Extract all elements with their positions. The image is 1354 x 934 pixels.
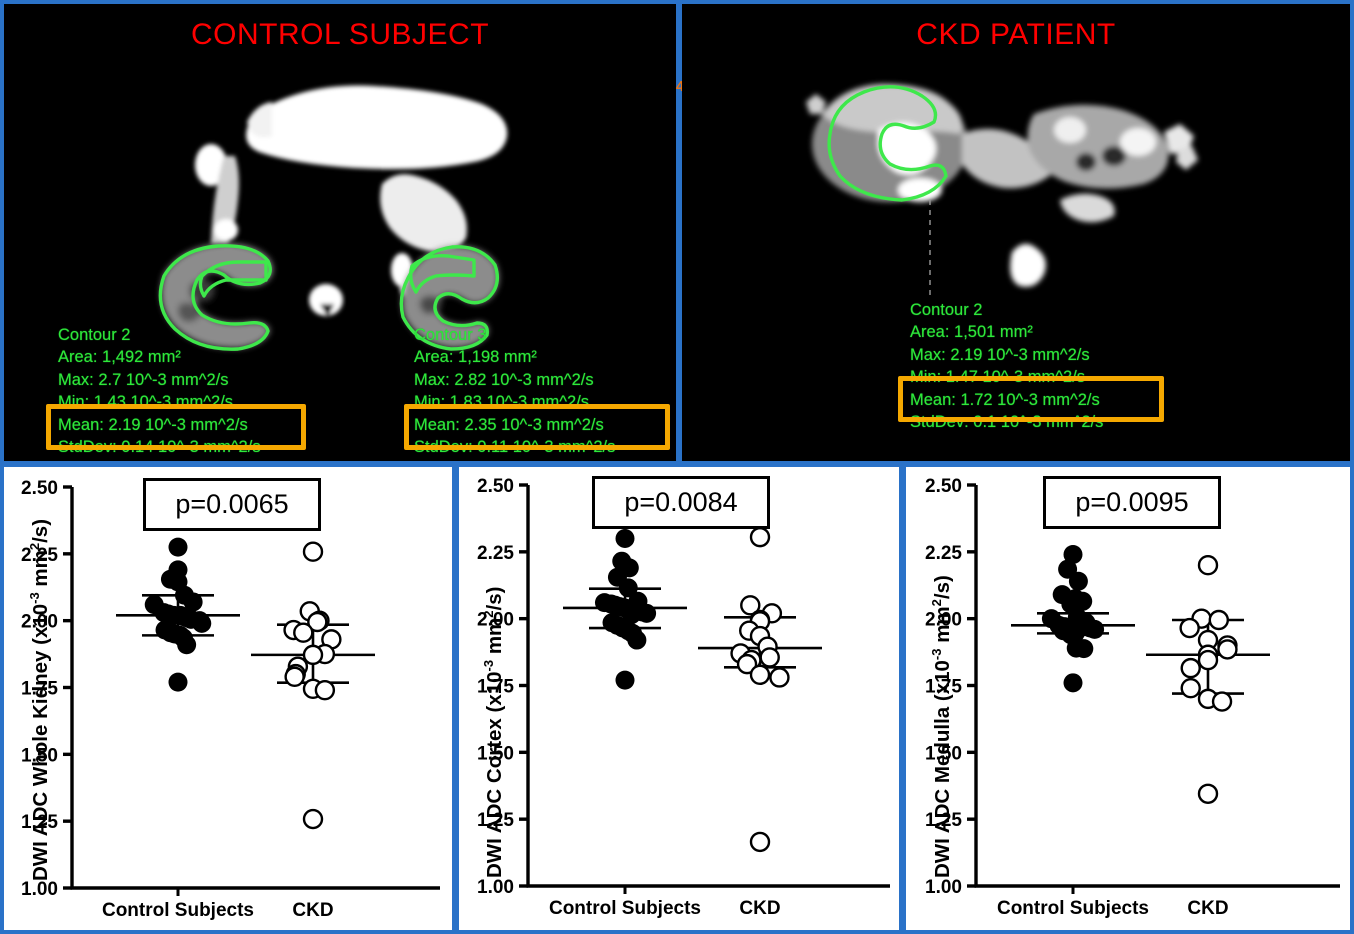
mean-highlight-box-ckd — [898, 376, 1164, 422]
mean-highlight-box-right — [404, 404, 670, 450]
contour-area: Area: 1,198 mm² — [414, 346, 615, 368]
contour-area: Area: 1,492 mm² — [58, 346, 261, 368]
chart-divider-1 — [452, 465, 457, 934]
chart-panel-whole-kidney — [4, 467, 452, 930]
pvalue-box-1: p=0.0065 — [143, 478, 321, 531]
mri-panel-control: CONTROL SUBJECT — [4, 4, 676, 461]
y-axis-label-3: DWI ADC Medulla (x10-3 mm2/s) — [929, 575, 955, 878]
contour-max: Max: 2.7 10^-3 mm^2/s — [58, 369, 261, 391]
chart-divider-2 — [899, 465, 904, 934]
pvalue-box-2: p=0.0084 — [592, 476, 770, 529]
contour-name: Contour 3 — [414, 324, 615, 346]
mean-highlight-box-left — [46, 404, 306, 450]
contour-max: Max: 2.19 10^-3 mm^2/s — [910, 344, 1103, 366]
contour-area: Area: 1,501 mm² — [910, 321, 1103, 343]
contour-max: Max: 2.82 10^-3 mm^2/s — [414, 369, 615, 391]
contour-name: Contour 2 — [910, 299, 1103, 321]
pvalue-box-3: p=0.0095 — [1043, 476, 1221, 529]
y-axis-label-2: DWI ADC Cortex (x10-3 mm2/s) — [481, 587, 507, 878]
figure-root: CONTROL SUBJECT — [0, 0, 1354, 934]
y-axis-label-1: DWI ADC Whole Kidney (x10-3 mm2/s) — [27, 519, 53, 881]
chart-panel-cortex — [459, 467, 899, 930]
chart-panel-medulla — [906, 467, 1350, 930]
contour-name: Contour 2 — [58, 324, 261, 346]
mri-panel-ckd: CKD PATIENT — [682, 4, 1350, 461]
